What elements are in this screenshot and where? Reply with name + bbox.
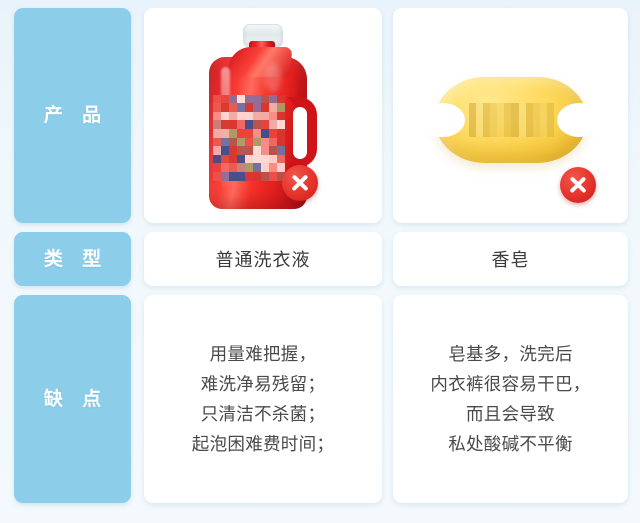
row-label-type: 类 型: [14, 232, 131, 286]
type-cell-soap: 香皂: [393, 232, 628, 286]
detergent-bottle-image: [144, 8, 382, 223]
type-value-detergent: 普通洗衣液: [216, 246, 311, 272]
bottle-shoulder-icon: [227, 47, 292, 77]
blurred-label-mosaic: [213, 95, 285, 181]
soap-notch-left: [421, 103, 465, 137]
bottle-handle-hole: [293, 107, 307, 159]
row-label-flaw-text: 缺 点: [37, 390, 108, 409]
product-comparison-table: 产 品: [0, 0, 640, 523]
row-label-product: 产 品: [14, 8, 131, 223]
soap-bar-icon: [435, 77, 587, 163]
flaw-value-detergent: 用量难把握， 难洗净易残留； 只清洁不杀菌； 起泡困难费时间；: [192, 339, 334, 459]
type-cell-detergent: 普通洗衣液: [144, 232, 382, 286]
comparison-table-page: 产 品: [0, 0, 640, 523]
product-cell-soap[interactable]: [393, 8, 628, 223]
bottle-highlight-secondary: [265, 63, 281, 93]
row-label-product-text: 产 品: [37, 106, 108, 125]
soap-notch-right: [557, 103, 601, 137]
flaw-cell-detergent: 用量难把握， 难洗净易残留； 只清洁不杀菌； 起泡困难费时间；: [144, 295, 382, 503]
flaw-cell-soap: 皂基多，洗完后 内衣裤很容易干巴， 而且会导致 私处酸碱不平衡: [393, 295, 628, 503]
product-cell-detergent[interactable]: [144, 8, 382, 223]
flaw-value-soap: 皂基多，洗完后 内衣裤很容易干巴， 而且会导致 私处酸碱不平衡: [430, 339, 590, 459]
row-label-type-text: 类 型: [37, 250, 108, 269]
red-x-mark-icon-detergent: [282, 165, 318, 201]
red-x-mark-icon-soap: [560, 167, 596, 203]
blurred-soap-emboss-mosaic: [469, 103, 555, 137]
type-value-soap: 香皂: [492, 246, 530, 272]
row-label-flaw: 缺 点: [14, 295, 131, 503]
soap-bar-image: [393, 8, 628, 223]
